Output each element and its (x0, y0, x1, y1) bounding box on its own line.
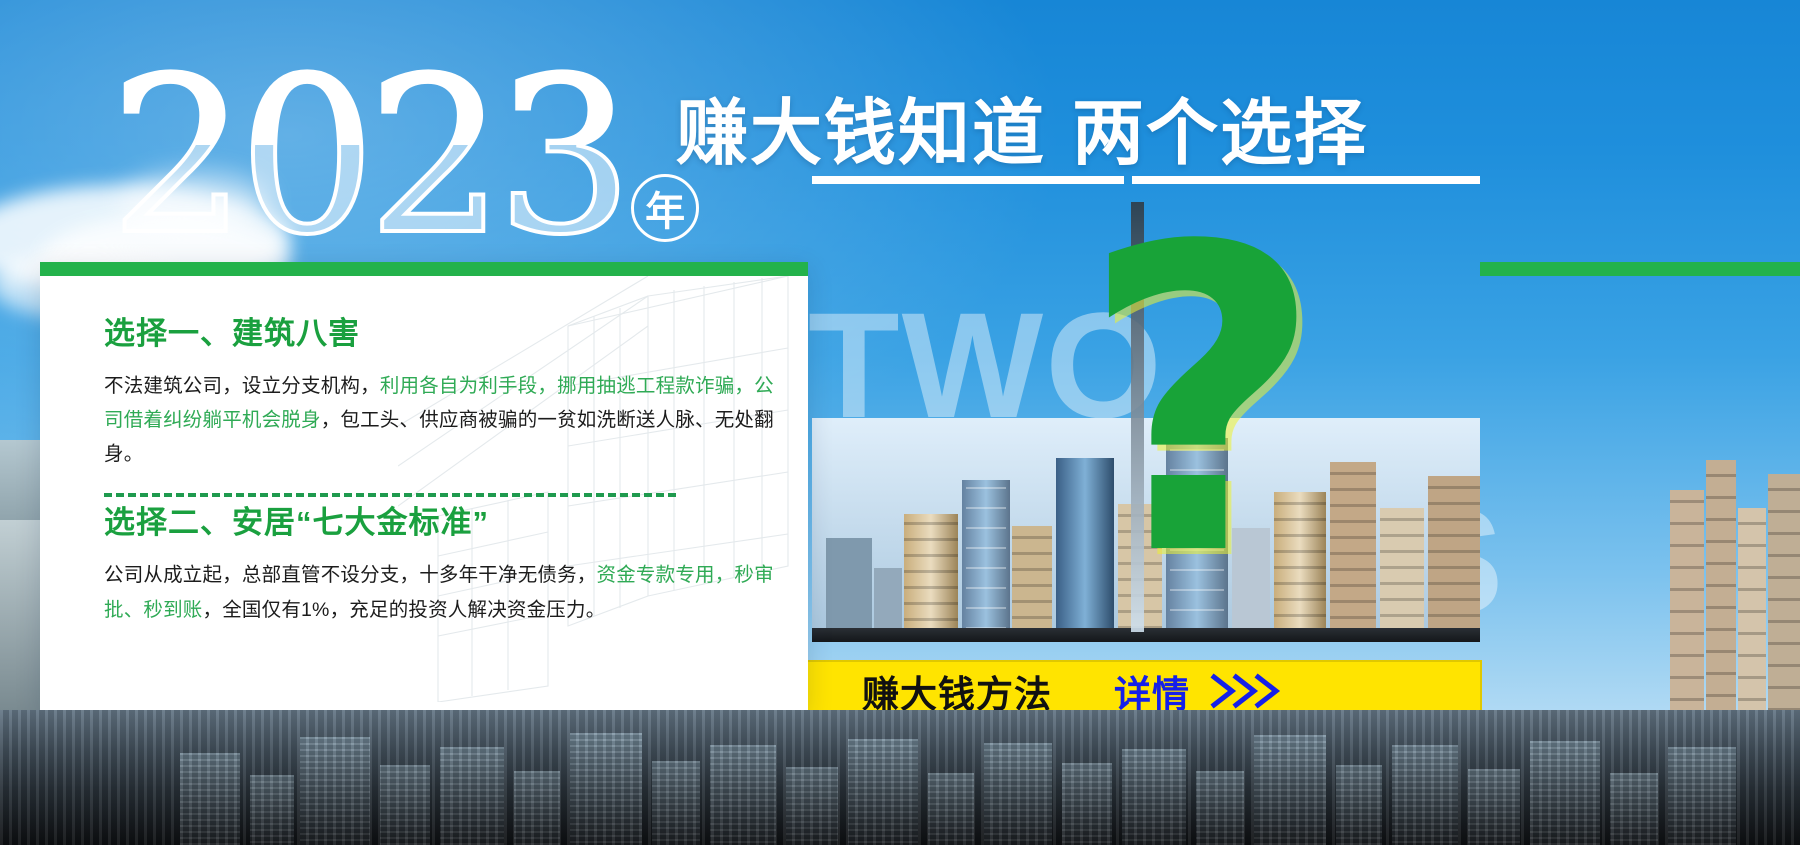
section-1-heading: 选择一、建筑八害 (104, 308, 774, 353)
year-display: 2023 2023 年 (110, 58, 699, 256)
section-2-text-a: 公司从成立起，总部直管不设分支，十多年干净无债务， (104, 564, 597, 586)
right-edge-cityscape (1670, 430, 1800, 720)
section-1-text-a: 不法建筑公司，设立分支机构， (104, 375, 380, 397)
question-mark-icon: ? (1080, 194, 1324, 614)
year-number: 2023 2023 (110, 58, 625, 256)
bottom-city-strip (0, 710, 1800, 845)
right-visual-panel: TWO CHOICES (812, 176, 1480, 696)
right-city-svg (1670, 430, 1800, 720)
section-2-heading: 选择二、安居“七大金标准” (104, 497, 774, 542)
chevron-right-triple-icon (1208, 671, 1288, 711)
right-green-accent-bar (1480, 262, 1800, 276)
section-2-text-c: ，全国仅有1%，充足的投资人解决资金压力。 (203, 599, 606, 621)
card-content: 选择一、建筑八害 不法建筑公司，设立分支机构，利用各自为利手段，挪用抽逃工程款诈… (40, 262, 808, 627)
year-suffix: 年 (631, 174, 699, 242)
page-title-part1: 赚大钱知道 (676, 94, 1046, 174)
promo-banner: 2023 2023 年 赚大钱知道两个选择 TWO CHOICES (0, 0, 1800, 845)
content-card: 选择一、建筑八害 不法建筑公司，设立分支机构，利用各自为利手段，挪用抽逃工程款诈… (40, 262, 808, 712)
section-2-body: 公司从成立起，总部直管不设分支，十多年干净无债务，资金专款专用，秒审批、秒到账，… (104, 558, 774, 626)
section-1-body: 不法建筑公司，设立分支机构，利用各自为利手段，挪用抽逃工程款诈骗，公司借着纠纷躺… (104, 369, 774, 471)
